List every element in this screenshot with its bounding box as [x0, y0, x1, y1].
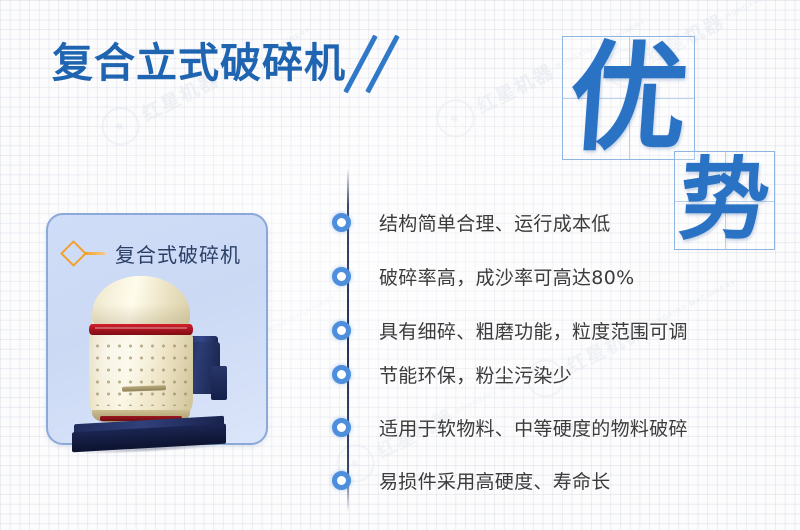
product-card-label: 复合式破碎机 [115, 239, 241, 268]
bullet-dot-icon [332, 365, 351, 384]
watermark-cn: 红星机器 [474, 61, 558, 118]
machine-red-band [89, 324, 193, 335]
list-item-label: 结构简单合理、运行成本低 [379, 209, 611, 236]
list-item-label: 易损件采用高硬度、寿命长 [379, 467, 611, 494]
list-item: 结构简单合理、运行成本低 [332, 210, 611, 234]
poster-canvas: 红星机器HONGXING MACHINERY 红星机器HONGXING MACH… [0, 0, 800, 530]
list-item: 易损件采用高硬度、寿命长 [332, 468, 611, 492]
product-photo [64, 270, 294, 460]
list-item: 破碎率高，成沙率可高达80% [332, 264, 634, 288]
bullet-dot-icon [332, 213, 351, 232]
advantage-char-box-you: 优 [562, 36, 695, 160]
list-item-label: 破碎率高，成沙率可高达80% [379, 263, 634, 290]
bullet-dot-icon [332, 321, 351, 340]
diamond-icon [60, 240, 87, 267]
watermark-seal-icon [430, 93, 481, 144]
advantage-char-you: 优 [559, 37, 699, 159]
list-item: 适用于软物料、中等硬度的物料破碎 [332, 415, 688, 439]
page-title: 复合立式破碎机 [52, 36, 404, 90]
machine-bolt-pattern [92, 340, 190, 406]
title-slash-decoration [352, 36, 404, 90]
watermark-seal-icon [95, 101, 146, 152]
page-title-text: 复合立式破碎机 [52, 43, 346, 84]
watermark-en: HONGXING MACHINERY [725, 0, 800, 20]
machine-dome-shading [92, 304, 190, 326]
advantage-char-shi: 势 [672, 152, 778, 249]
list-item: 具有细碎、粗磨功能，粒度范围可调 [332, 318, 688, 342]
list-item-label: 节能环保，粉尘污染少 [379, 361, 572, 388]
list-item-label: 适用于软物料、中等硬度的物料破碎 [379, 414, 688, 441]
list-item: 节能环保，粉尘污染少 [332, 362, 572, 386]
bullet-dot-icon [332, 418, 351, 437]
list-item-label: 具有细碎、粗磨功能，粒度范围可调 [379, 317, 688, 344]
bullet-dot-icon [332, 267, 351, 286]
product-card-label-row: 复合式破碎机 [64, 239, 241, 268]
advantage-char-box-shi: 势 [674, 151, 775, 250]
machine-pulley [211, 366, 227, 400]
bullet-dot-icon [332, 471, 351, 490]
label-dash-decoration [85, 252, 105, 255]
